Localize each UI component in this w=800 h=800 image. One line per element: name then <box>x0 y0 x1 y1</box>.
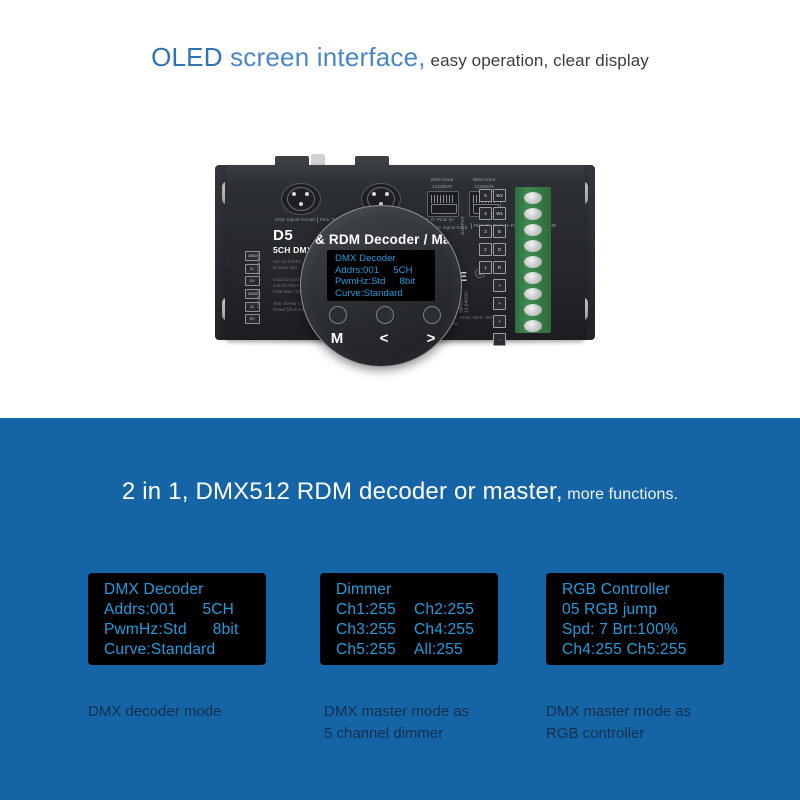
oled-line-left: Ch3:255 <box>336 621 396 638</box>
xlr-pin <box>299 202 303 206</box>
oled-line-left: Ch1:255 <box>336 601 396 618</box>
terminal-d-plus: D+ <box>245 314 260 324</box>
oled-line-left: RGB Controller <box>562 581 670 598</box>
oled-line: DMX Decoder <box>88 580 266 600</box>
next-button-label: > <box>421 330 441 347</box>
oled-line: Ch4:255 Ch5:255 <box>546 640 724 660</box>
rj45-body <box>431 204 457 214</box>
output-channel-2-number: 2 <box>479 243 492 256</box>
device-button-row: M < > <box>323 306 443 358</box>
blue-headline-sub: more functions. <box>563 486 678 503</box>
oled-line: Ch5:255All:255 <box>320 640 498 660</box>
oled-line-left: Spd: 7 Brt:100% <box>562 621 678 638</box>
output-channel-4-number: 4 <box>479 207 492 220</box>
output-channel-g: G <box>493 243 506 256</box>
oled-line-left: Ch5:255 <box>336 641 396 658</box>
top-section: OLED screen interface, easy operation, c… <box>0 0 800 418</box>
output-channel-3-number: 3 <box>479 225 492 238</box>
terminal-screw-icon <box>524 240 542 252</box>
top-headline-sub: easy operation, clear display <box>426 51 649 70</box>
oled-line-left: DMX Decoder <box>335 253 396 264</box>
xlr-pin <box>305 192 309 196</box>
output-channel-w1: W1 <box>493 207 506 220</box>
output-channel-1-number: 1 <box>479 261 492 274</box>
terminal-screw-icon <box>524 224 542 236</box>
blue-feature-section: 2 in 1, DMX512 RDM decoder or master, mo… <box>0 418 800 800</box>
screen-caption: DMX master mode as RGB controller <box>546 701 691 745</box>
input-terminal-minus: - <box>493 333 506 346</box>
blue-headline-lead: 2 in 1, DMX512 RDM decoder or master, <box>122 478 563 505</box>
rj45-contacts <box>431 195 455 203</box>
screen-caption: DMX decoder mode <box>88 701 221 723</box>
oled-line-left: Curve:Standard <box>104 641 215 658</box>
oled-display: Dimmer Ch1:255Ch2:255 Ch3:255Ch4:255 Ch5… <box>320 573 498 665</box>
input-terminal-plus: + <box>493 297 506 310</box>
oled-line: Addrs:0015CH <box>88 600 266 620</box>
screen-caption: DMX master mode as 5 channel dimmer <box>324 701 469 745</box>
top-headline-lead: OLED <box>151 42 223 72</box>
output-terminal-block <box>515 187 551 333</box>
top-headline-lead2: screen interface, <box>223 42 426 72</box>
xlr-pin-ring <box>287 187 315 211</box>
oled-line-right: 5CH <box>202 600 234 620</box>
previous-button-label: < <box>374 330 394 347</box>
xlr-female-connector-icon <box>281 183 321 215</box>
xlr-pin <box>372 192 376 196</box>
xlr-pin <box>385 192 389 196</box>
terminal-screw-icon <box>524 192 542 204</box>
oled-line: 05 RGB jump <box>546 600 724 620</box>
terminal-d-plus: D+ <box>245 276 260 286</box>
oled-line: DMX Decoder <box>327 253 435 265</box>
oled-line: Spd: 7 Brt:100% <box>546 620 724 640</box>
oled-line-left: PwmHz:Std <box>335 276 386 287</box>
xlr-female-label: DMX Signal Female <box>275 217 316 223</box>
oled-line: Ch1:255Ch2:255 <box>320 600 498 620</box>
oled-line-right: 5CH <box>393 265 412 277</box>
oled-line-left: Curve:Standard <box>335 288 403 299</box>
rj45-port-a-icon <box>427 191 459 217</box>
terminal-screw-icon <box>524 320 542 332</box>
input-terminal-plus: + <box>493 279 506 292</box>
oled-line-left: DMX Decoder <box>104 581 204 598</box>
oled-line-left: Ch4:255 Ch5:255 <box>562 641 687 658</box>
terminal-group-2-label: DMX ARY <box>256 289 261 308</box>
oled-line-right: Ch4:255 <box>414 620 474 640</box>
blue-headline: 2 in 1, DMX512 RDM decoder or master, mo… <box>0 478 800 506</box>
oled-line-right: Ch2:255 <box>414 600 474 620</box>
rj45-label-a: DMX in/out <box>426 177 458 182</box>
output-channel-b: B <box>493 225 506 238</box>
magnified-oled-display: DMX Decoder Addrs:0015CH PwmHz:Std8bit C… <box>327 250 435 301</box>
magnifier-callout: & RDM Decoder / Master DMX Decoder Addrs… <box>300 205 462 367</box>
screen-examples: DMX Decoder Addrs:0015CH PwmHz:Std8bit C… <box>0 573 800 683</box>
top-headline: OLED screen interface, easy operation, c… <box>0 42 800 73</box>
terminal-group-1-label: DMX IN/OUT <box>256 251 261 276</box>
previous-button[interactable] <box>376 306 394 324</box>
oled-line-left: Addrs:001 <box>335 265 379 276</box>
oled-line: RGB Controller <box>546 580 724 600</box>
terminal-screw-icon <box>524 304 542 316</box>
oled-line-left: Addrs:001 <box>104 601 176 618</box>
xlr-pin <box>292 192 296 196</box>
device-model-name: D5 <box>273 227 293 244</box>
input-terminal-plus: + <box>493 315 506 328</box>
output-channel-5-number: 5 <box>479 189 492 202</box>
terminal-screw-icon <box>524 256 542 268</box>
screen-example-rgb-controller: RGB Controller 05 RGB jump Spd: 7 Brt:10… <box>546 573 724 665</box>
oled-line: PwmHz:Std8bit <box>88 620 266 640</box>
magnified-model-subtitle: & RDM Decoder / Master <box>315 232 462 247</box>
product-marketing-page: OLED screen interface, easy operation, c… <box>0 0 800 800</box>
menu-button-label: M <box>327 330 347 347</box>
oled-line: Addrs:0015CH <box>327 265 435 277</box>
oled-line: Ch3:255Ch4:255 <box>320 620 498 640</box>
screen-example-dimmer: Dimmer Ch1:255Ch2:255 Ch3:255Ch4:255 Ch5… <box>320 573 498 665</box>
oled-line: PwmHz:Std8bit <box>327 276 435 288</box>
terminal-screw-icon <box>524 272 542 284</box>
rj45-pin-numbers-a: 12345678 <box>426 184 458 189</box>
output-channel-w2: W2 <box>493 189 506 202</box>
oled-line-right: 8bit <box>213 620 239 640</box>
rj45-label-b: DMX in/out <box>468 177 500 182</box>
oled-line-left: PwmHz:Std <box>104 621 187 638</box>
terminal-screw-icon <box>524 208 542 220</box>
oled-line-left: 05 RGB jump <box>562 601 657 618</box>
menu-button[interactable] <box>329 306 347 324</box>
terminal-screw-icon <box>524 288 542 300</box>
oled-display: DMX Decoder Addrs:0015CH PwmHz:Std8bit C… <box>88 573 266 665</box>
oled-line: Curve:Standard <box>88 640 266 660</box>
screen-example-dmx-decoder: DMX Decoder Addrs:0015CH PwmHz:Std8bit C… <box>88 573 266 665</box>
oled-display: RGB Controller 05 RGB jump Spd: 7 Brt:10… <box>546 573 724 665</box>
oled-line-right: All:255 <box>414 640 463 660</box>
next-button[interactable] <box>423 306 441 324</box>
oled-line: Dimmer <box>320 580 498 600</box>
oled-line: Curve:Standard <box>327 288 435 300</box>
oled-line-left: Dimmer <box>336 581 391 598</box>
output-channel-r: R <box>493 261 506 274</box>
oled-line-right: 8bit <box>400 276 416 288</box>
